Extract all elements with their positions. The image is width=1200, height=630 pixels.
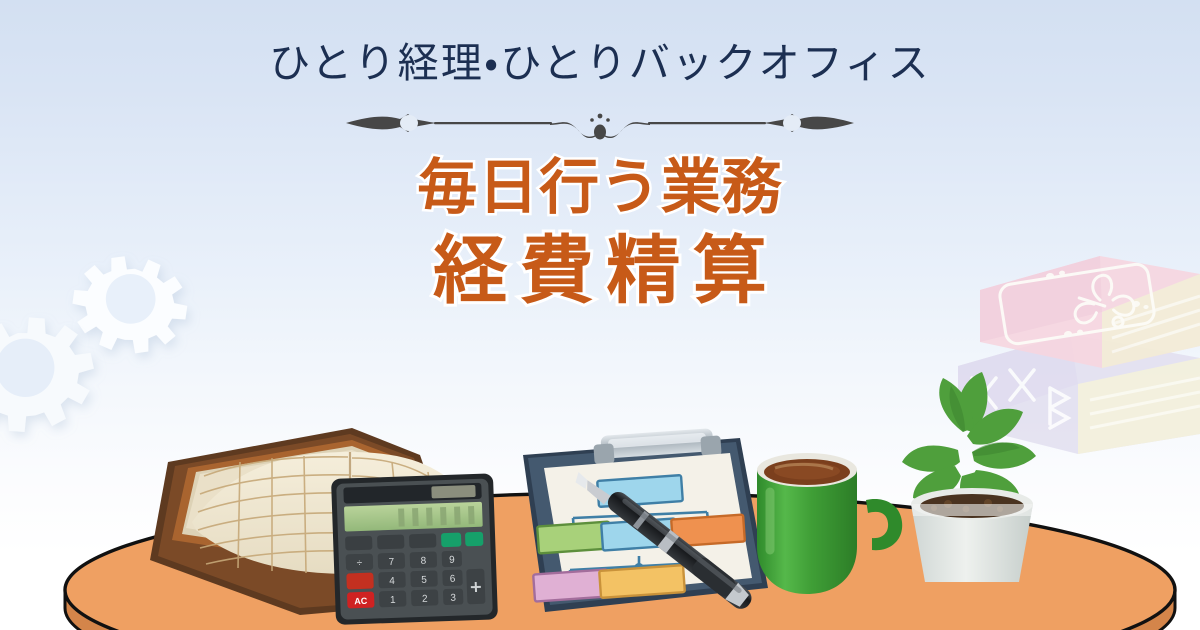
svg-text:9: 9: [449, 555, 455, 566]
ornamental-divider-icon: [340, 103, 860, 143]
svg-text:1: 1: [390, 595, 396, 606]
ballpoint-pen: [572, 463, 755, 613]
potted-plant: [902, 372, 1036, 582]
flowchart-node: [601, 518, 677, 550]
svg-text:6: 6: [450, 574, 456, 585]
flowchart-node: [597, 475, 683, 507]
calculator: AC 789 456 123 ÷: [331, 473, 498, 625]
image-canvas: ひとり経理・ひとりバックオフィス: [0, 0, 1200, 630]
flowchart-node: [537, 522, 611, 554]
desk-table: [65, 493, 1175, 630]
title-line-2: 経費精算: [0, 230, 1200, 313]
headline-block: ひとり経理・ひとりバックオフィス: [0, 0, 1200, 313]
subtitle-text: ひとり経理・ひとりバックオフィス: [0, 38, 1200, 89]
svg-text:7: 7: [388, 557, 394, 568]
title-line-1: 毎日行う業務: [0, 155, 1200, 222]
svg-text:AC: AC: [354, 596, 368, 606]
flowchart-node: [599, 565, 685, 598]
svg-text:3: 3: [450, 593, 456, 604]
clipboard-clip: [593, 428, 721, 465]
flowchart-node: [671, 515, 745, 547]
svg-text:5: 5: [421, 575, 427, 586]
flowchart: [533, 475, 745, 601]
flowchart-node: [533, 569, 609, 601]
coffee-mug: [757, 453, 902, 594]
open-ledger-book: [150, 428, 482, 615]
svg-text:4: 4: [389, 576, 395, 587]
svg-text:2: 2: [422, 594, 428, 605]
svg-text:8: 8: [420, 556, 426, 567]
svg-text:÷: ÷: [357, 558, 363, 569]
clipboard-with-flowchart: [523, 428, 768, 612]
